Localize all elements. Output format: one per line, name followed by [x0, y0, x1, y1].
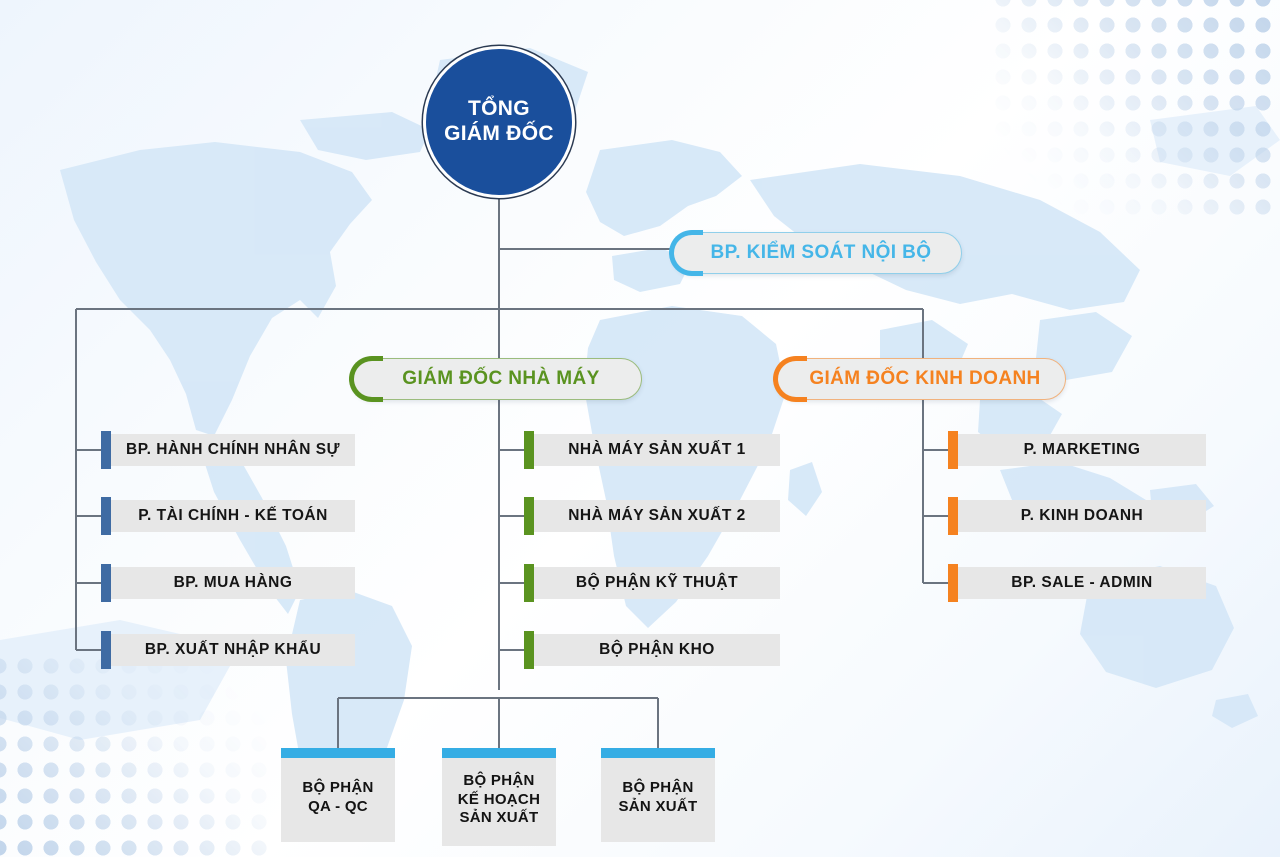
halftone-dots-top-right	[990, 0, 1280, 216]
halftone-dots-bottom-left	[0, 653, 276, 857]
accent-bar-icon	[524, 631, 534, 669]
accent-bar-icon	[101, 564, 111, 602]
node-internal-control[interactable]: BP. KIỂM SOÁT NỘI BỘ	[672, 232, 962, 274]
node-production-label: BỘ PHẬN SẢN XUẤT	[601, 758, 715, 842]
node-factory-warehouse-label: BỘ PHẬN KHO	[534, 634, 780, 666]
box-cap-icon	[442, 748, 556, 758]
accent-bar-icon	[101, 631, 111, 669]
node-admin-import-export-label: BP. XUẤT NHẬP KHẨU	[111, 634, 355, 666]
connector-lines	[0, 0, 1280, 857]
node-factory-plant-1[interactable]: NHÀ MÁY SẢN XUẤT 1	[524, 434, 780, 466]
node-sales-admin[interactable]: BP. SALE - ADMIN	[948, 567, 1206, 599]
accent-bar-icon	[948, 497, 958, 535]
node-factory-technical[interactable]: BỘ PHẬN KỸ THUẬT	[524, 567, 780, 599]
node-factory-technical-label: BỘ PHẬN KỸ THUẬT	[534, 567, 780, 599]
accent-bar-icon	[101, 431, 111, 469]
node-admin-purchasing-label: BP. MUA HÀNG	[111, 567, 355, 599]
node-factory-warehouse[interactable]: BỘ PHẬN KHO	[524, 634, 780, 666]
accent-bar-icon	[524, 497, 534, 535]
node-factory-plant-2[interactable]: NHÀ MÁY SẢN XUẤT 2	[524, 500, 780, 532]
accent-bar-icon	[101, 497, 111, 535]
node-production-planning[interactable]: BỘ PHẬN KẾ HOẠCH SẢN XUẤT	[442, 748, 556, 846]
world-map-background	[0, 0, 1280, 857]
node-factory-director[interactable]: GIÁM ĐỐC NHÀ MÁY	[352, 358, 642, 400]
node-qa-qc-label: BỘ PHẬN QA - QC	[281, 758, 395, 842]
node-admin-finance[interactable]: P. TÀI CHÍNH - KẾ TOÁN	[101, 500, 355, 532]
box-cap-icon	[281, 748, 395, 758]
node-production[interactable]: BỘ PHẬN SẢN XUẤT	[601, 748, 715, 842]
accent-bar-icon	[948, 431, 958, 469]
accent-bar-icon	[524, 564, 534, 602]
node-sales-director[interactable]: GIÁM ĐỐC KINH DOANH	[776, 358, 1066, 400]
node-admin-hr[interactable]: BP. HÀNH CHÍNH NHÂN SỰ	[101, 434, 355, 466]
node-sales-business-label: P. KINH DOANH	[958, 500, 1206, 532]
node-sales-marketing[interactable]: P. MARKETING	[948, 434, 1206, 466]
node-admin-purchasing[interactable]: BP. MUA HÀNG	[101, 567, 355, 599]
box-cap-icon	[601, 748, 715, 758]
ceo-label: TỔNG GIÁM ĐỐC	[444, 97, 554, 147]
node-qa-qc[interactable]: BỘ PHẬN QA - QC	[281, 748, 395, 842]
node-admin-hr-label: BP. HÀNH CHÍNH NHÂN SỰ	[111, 434, 355, 466]
node-factory-director-label: GIÁM ĐỐC NHÀ MÁY	[372, 368, 621, 390]
ceo-node[interactable]: TỔNG GIÁM ĐỐC	[423, 46, 575, 198]
node-admin-finance-label: P. TÀI CHÍNH - KẾ TOÁN	[111, 500, 355, 532]
node-factory-plant-1-label: NHÀ MÁY SẢN XUẤT 1	[534, 434, 780, 466]
node-sales-director-label: GIÁM ĐỐC KINH DOANH	[779, 368, 1062, 390]
node-sales-marketing-label: P. MARKETING	[958, 434, 1206, 466]
org-chart-canvas: TỔNG GIÁM ĐỐC BP. KIỂM SOÁT NỘI BỘ GIÁM …	[0, 0, 1280, 857]
node-sales-business[interactable]: P. KINH DOANH	[948, 500, 1206, 532]
node-production-planning-label: BỘ PHẬN KẾ HOẠCH SẢN XUẤT	[442, 758, 556, 846]
node-internal-control-label: BP. KIỂM SOÁT NỘI BỘ	[681, 242, 954, 264]
accent-bar-icon	[524, 431, 534, 469]
accent-bar-icon	[948, 564, 958, 602]
node-factory-plant-2-label: NHÀ MÁY SẢN XUẤT 2	[534, 500, 780, 532]
node-sales-admin-label: BP. SALE - ADMIN	[958, 567, 1206, 599]
node-admin-import-export[interactable]: BP. XUẤT NHẬP KHẨU	[101, 634, 355, 666]
